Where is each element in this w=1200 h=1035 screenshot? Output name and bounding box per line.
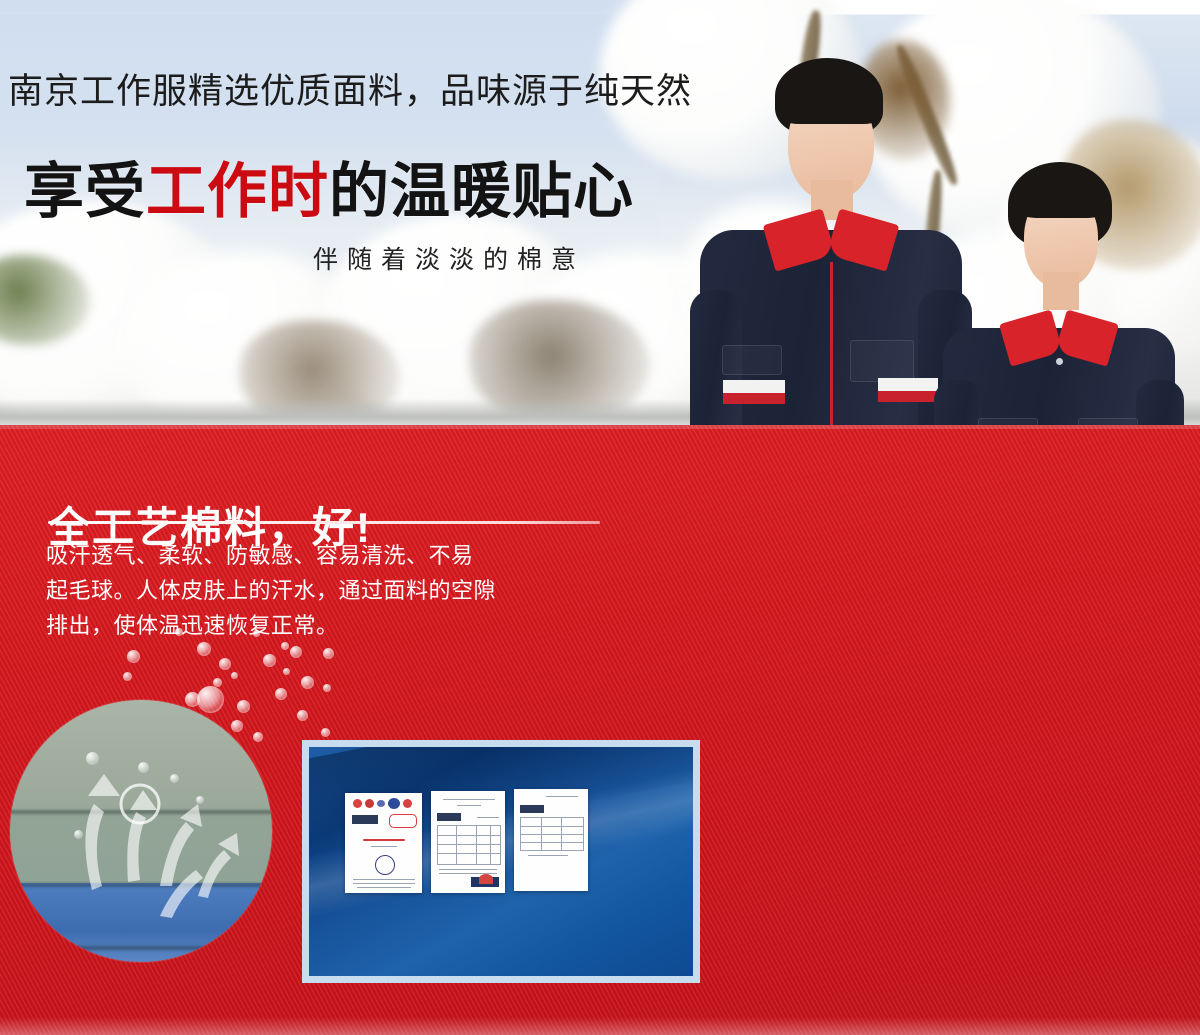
droplet (231, 672, 238, 679)
red-seal-icon (479, 874, 493, 884)
hero-headline-top: 南京工作服精选优质面料，品味源于纯天然 (8, 63, 692, 114)
doc-header-line (477, 817, 499, 818)
headline-part-accent: 工作时 (146, 158, 329, 225)
droplet (297, 710, 308, 721)
reflective-stripe-white-left (723, 380, 785, 393)
feature-divider (48, 521, 600, 524)
droplet (283, 668, 290, 675)
certificate-test-data-sheet (514, 789, 588, 891)
report-subtitle-line (371, 846, 397, 847)
droplet (301, 676, 314, 689)
sheet-header-block (520, 805, 544, 813)
droplet (175, 628, 183, 636)
headline-part-after: 的温暖贴心 (329, 158, 634, 225)
report-header-block (352, 815, 378, 824)
feature-body-line-1: 吸汗透气、柔软、防敏感、容易清洗、不易 (46, 538, 496, 573)
panel-top-highlight (0, 425, 1200, 429)
chest-pocket (850, 340, 914, 382)
collar-button (1056, 358, 1063, 365)
hero-headline-main: 享受工作时的温暖贴心 (24, 143, 634, 230)
org-logo-icon (403, 799, 412, 808)
droplet (323, 684, 331, 692)
droplet (74, 830, 83, 839)
org-logo-icon (377, 800, 385, 807)
droplet (86, 752, 99, 765)
footer-line (353, 883, 415, 884)
doc-subtitle-line (457, 805, 481, 806)
doc-title-line (443, 799, 495, 800)
headline-part-before: 享受 (24, 158, 146, 225)
sheet-title-line (546, 796, 578, 797)
doc-note-line (439, 869, 497, 870)
shoulder-seam (722, 345, 782, 375)
panel-bottom-highlight (0, 1017, 1200, 1035)
blue-fabric-swatch (309, 747, 693, 976)
org-logo-icon (365, 799, 374, 808)
hairline (1018, 182, 1106, 218)
neck (1043, 272, 1079, 310)
moisture-flow-arrows-icon (10, 700, 272, 962)
droplet (123, 672, 132, 681)
doc-header-block (437, 813, 461, 821)
sheet-note-line (528, 855, 568, 856)
droplet (253, 630, 260, 637)
certificate-inspection-report (345, 793, 422, 893)
data-table-grid (437, 825, 501, 865)
report-number-box (389, 814, 417, 828)
org-logo-icon (388, 798, 400, 809)
reflective-stripe-red-right (878, 391, 938, 402)
data-table-grid (520, 817, 584, 851)
hero-subheadline: 伴随着淡淡的棉意 (313, 240, 585, 276)
reflective-stripe-red-left (723, 393, 785, 404)
droplet (281, 642, 289, 650)
droplet (138, 762, 149, 773)
droplet (263, 654, 276, 667)
footer-line (357, 887, 411, 888)
hairline (780, 80, 882, 124)
footer-line (353, 879, 415, 880)
droplet (290, 646, 302, 658)
droplet (275, 688, 287, 700)
fabric-breathability-circle (10, 700, 272, 962)
droplet (219, 658, 231, 670)
certificate-quality-test-report (431, 791, 505, 893)
droplet (197, 642, 211, 656)
product-detail-page: 南京工作服精选优质面料，品味源于纯天然 享受工作时的温暖贴心 伴随着淡淡的棉意 (0, 0, 1200, 1035)
org-logo-icon (353, 799, 362, 808)
droplet (170, 774, 179, 783)
feature-body-line-2: 起毛球。人体皮肤上的汗水，通过面料的空隙 (46, 573, 496, 608)
droplet (127, 650, 140, 663)
droplet (196, 796, 204, 804)
fabric-swatch-panel (302, 740, 700, 983)
official-seal-icon (375, 855, 395, 875)
droplet (321, 728, 330, 737)
report-title-line (363, 839, 405, 841)
reflective-stripe-white-right (878, 378, 938, 391)
droplet (323, 648, 334, 659)
